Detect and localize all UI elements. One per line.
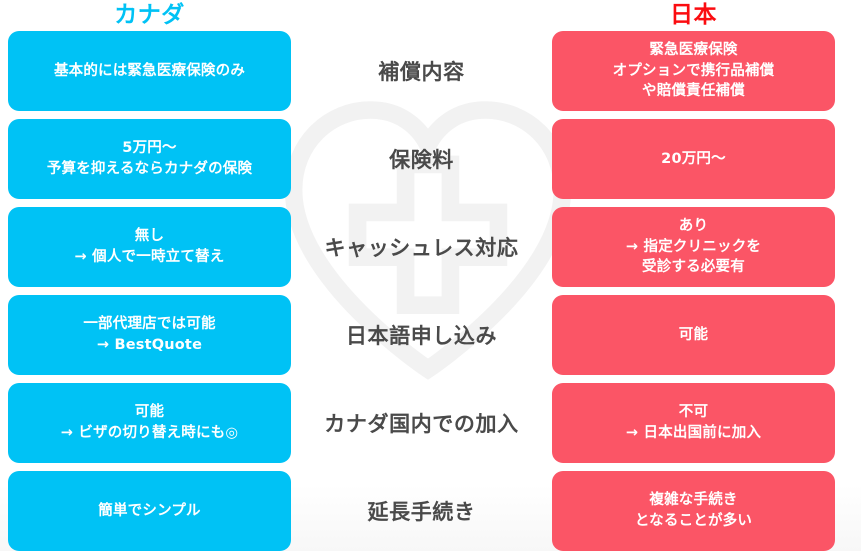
row-label: キャッシュレス対応 — [291, 207, 552, 287]
canada-cell: 5万円〜 予算を抑えるならカナダの保険 — [8, 119, 291, 199]
japan-cell: 不可 → 日本出国前に加入 — [552, 383, 835, 463]
row-label: 延長手続き — [291, 471, 552, 551]
cell-line: 予算を抑えるならカナダの保険 — [16, 159, 283, 180]
row-label: 日本語申し込み — [291, 295, 552, 375]
cell-line: 不可 — [560, 402, 827, 423]
insurance-comparison-table: カナダ 日本 基本的には緊急医療保険のみ 補償内容 緊急医療保険 オプションで携… — [0, 0, 861, 551]
cell-line: 受診する必要有 — [560, 257, 827, 278]
cell-line: 簡単でシンプル — [16, 501, 283, 522]
canada-cell: 簡単でシンプル — [8, 471, 291, 551]
canada-cell: 可能 → ビザの切り替え時にも◎ — [8, 383, 291, 463]
canada-cell: 基本的には緊急医療保険のみ — [8, 31, 291, 111]
cell-line: 20万円〜 — [560, 149, 827, 170]
cell-line: 無し — [16, 226, 283, 247]
canada-cell: 一部代理店では可能 → BestQuote — [8, 295, 291, 375]
japan-cell: 20万円〜 — [552, 119, 835, 199]
comparison-rows: 基本的には緊急医療保険のみ 補償内容 緊急医療保険 オプションで携行品補償 や賠… — [0, 31, 861, 551]
cell-line: オプションで携行品補償 — [560, 61, 827, 82]
cell-line: 緊急医療保険 — [560, 40, 827, 61]
cell-line: 複雑な手続き — [560, 490, 827, 511]
table-row: 可能 → ビザの切り替え時にも◎ カナダ国内での加入 不可 → 日本出国前に加入 — [0, 383, 861, 471]
column-header-canada: カナダ — [8, 0, 291, 30]
canada-cell: 無し → 個人で一時立て替え — [8, 207, 291, 287]
table-row: 5万円〜 予算を抑えるならカナダの保険 保険料 20万円〜 — [0, 119, 861, 207]
cell-line: 可能 — [560, 325, 827, 346]
table-row: 基本的には緊急医療保険のみ 補償内容 緊急医療保険 オプションで携行品補償 や賠… — [0, 31, 861, 119]
cell-line: 基本的には緊急医療保険のみ — [16, 61, 283, 82]
table-row: 簡単でシンプル 延長手続き 複雑な手続き となることが多い — [0, 471, 861, 551]
cell-line: 一部代理店では可能 — [16, 314, 283, 335]
japan-cell: 可能 — [552, 295, 835, 375]
row-label: 保険料 — [291, 119, 552, 199]
table-row: 無し → 個人で一時立て替え キャッシュレス対応 あり → 指定クリニックを 受… — [0, 207, 861, 295]
row-label: カナダ国内での加入 — [291, 383, 552, 463]
cell-line: や賠償責任補償 — [560, 81, 827, 102]
cell-line: → 個人で一時立て替え — [16, 247, 283, 268]
japan-cell: 複雑な手続き となることが多い — [552, 471, 835, 551]
cell-line: → BestQuote — [16, 335, 283, 356]
cell-line: 5万円〜 — [16, 138, 283, 159]
table-row: 一部代理店では可能 → BestQuote 日本語申し込み 可能 — [0, 295, 861, 383]
cell-line: → 日本出国前に加入 — [560, 423, 827, 444]
japan-cell: あり → 指定クリニックを 受診する必要有 — [552, 207, 835, 287]
cell-line: あり — [560, 216, 827, 237]
row-label: 補償内容 — [291, 31, 552, 111]
japan-cell: 緊急医療保険 オプションで携行品補償 や賠償責任補償 — [552, 31, 835, 111]
cell-line: → 指定クリニックを — [560, 237, 827, 258]
cell-line: となることが多い — [560, 511, 827, 532]
cell-line: 可能 — [16, 402, 283, 423]
column-header-japan: 日本 — [552, 0, 835, 30]
cell-line: → ビザの切り替え時にも◎ — [16, 423, 283, 444]
